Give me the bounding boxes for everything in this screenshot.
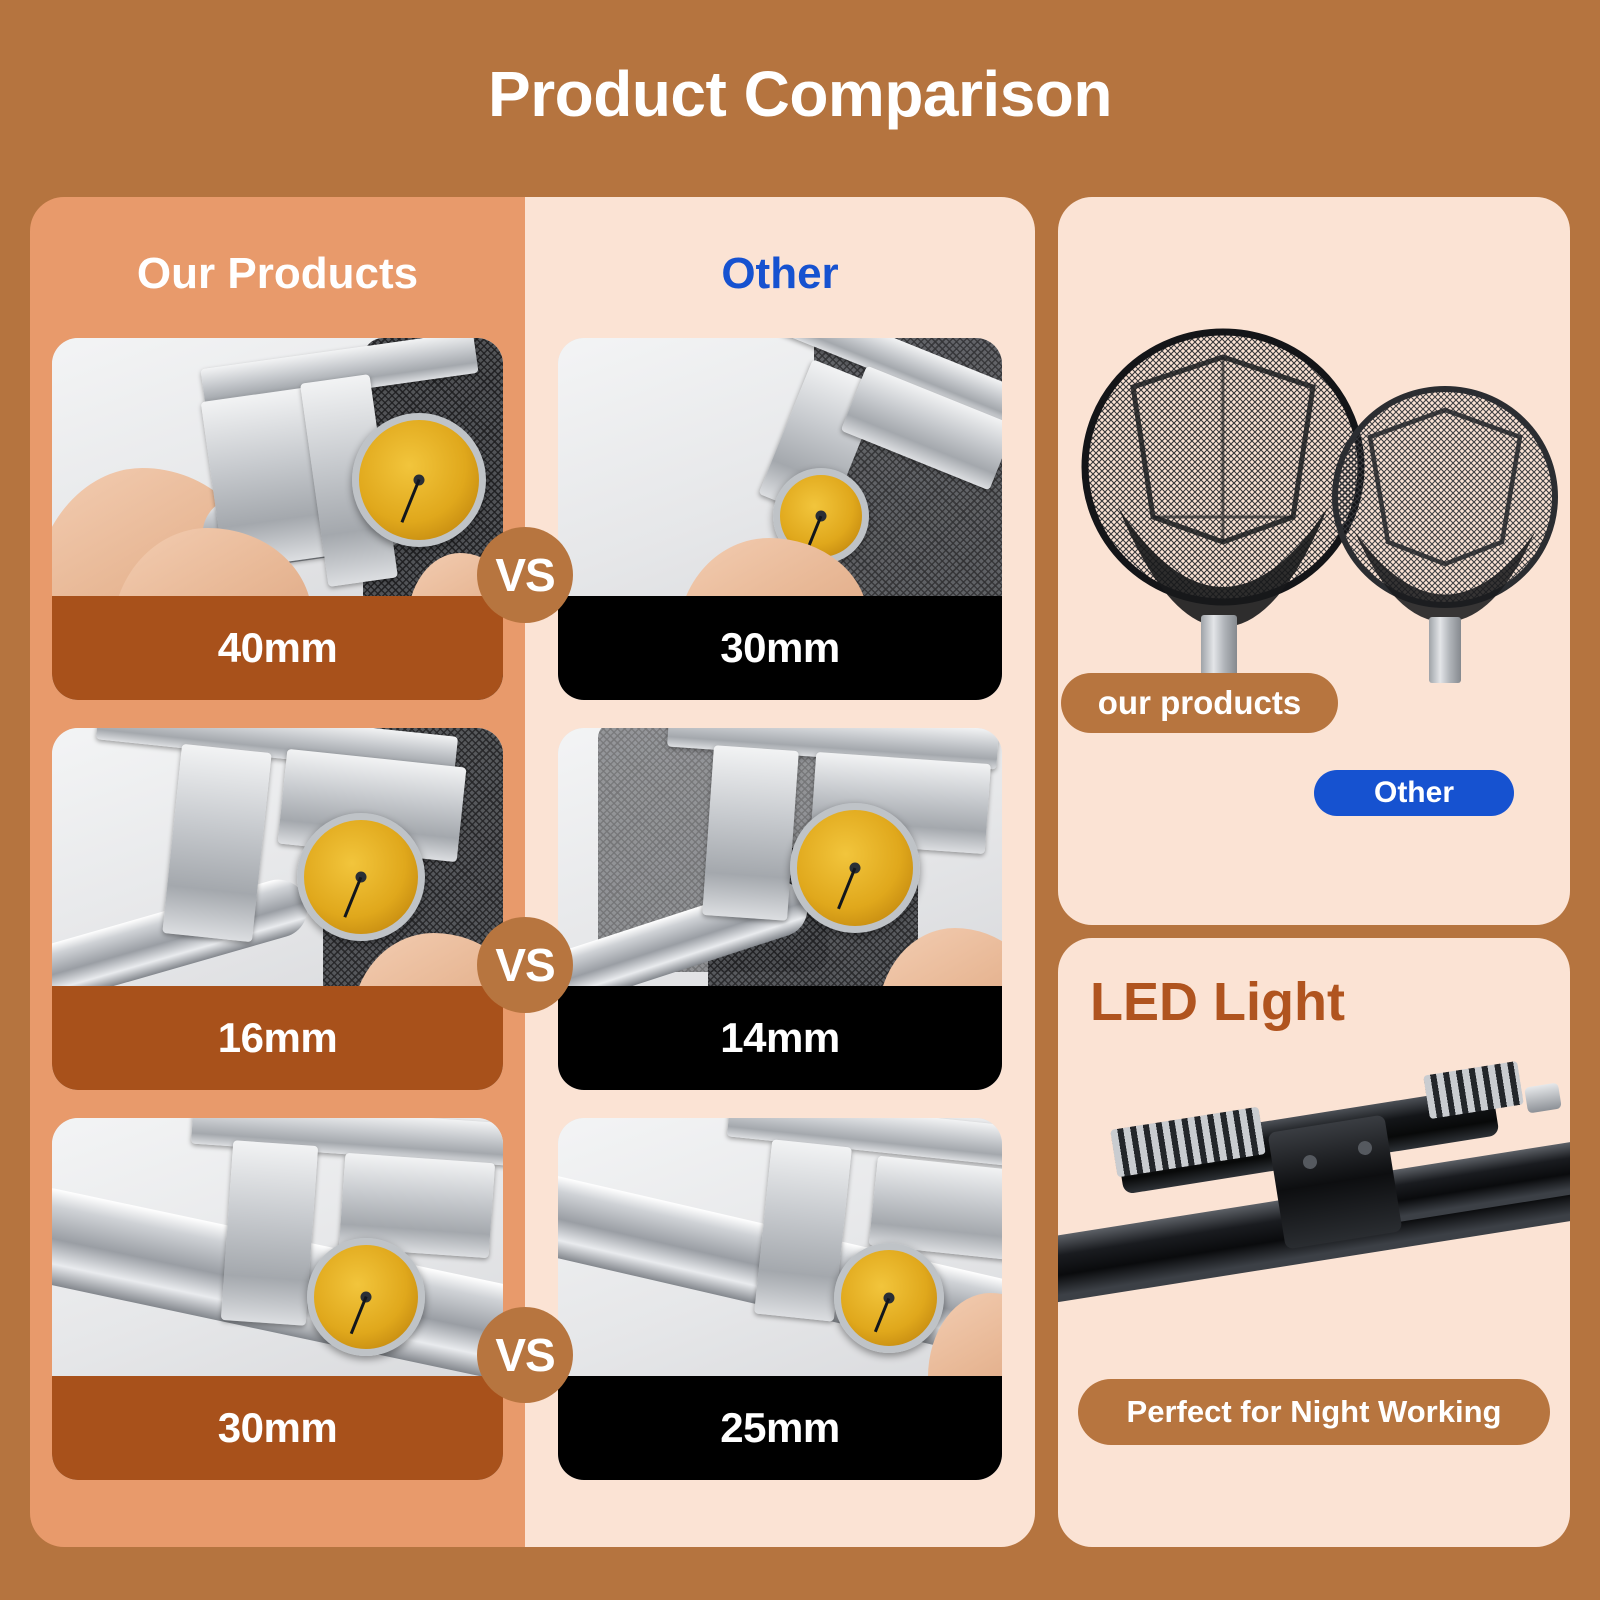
vs-badge-row-1: VS <box>477 527 573 623</box>
column-other: Other 30mm <box>525 197 1035 1547</box>
led-light-card: LED Light Perfect for Night Working <box>1058 938 1570 1547</box>
card-caption-ours-40mm: 40mm <box>52 596 503 700</box>
net-graphic-ours <box>1078 327 1368 627</box>
badge-other-net: Other <box>1314 770 1514 816</box>
badge-our-products-net: our products <box>1061 673 1338 733</box>
card-caption-other-25mm: 25mm <box>558 1376 1002 1480</box>
product-card-ours-30mm[interactable]: 30mm <box>52 1118 503 1480</box>
badge-night-working: Perfect for Night Working <box>1078 1379 1550 1445</box>
vs-badge-row-2: VS <box>477 917 573 1013</box>
led-light-photo <box>1058 1043 1570 1373</box>
vs-badge-row-3: VS <box>477 1307 573 1403</box>
product-card-other-14mm[interactable]: 14mm <box>558 728 1002 1090</box>
net-comparison-card: Other <box>1058 197 1570 925</box>
product-card-ours-40mm[interactable]: 40mm <box>52 338 503 700</box>
card-caption-other-14mm: 14mm <box>558 986 1002 1090</box>
column-heading-other: Other <box>525 252 1035 296</box>
column-our-products: Our Products 40mm <box>30 197 525 1547</box>
card-caption-ours-30mm: 30mm <box>52 1376 503 1480</box>
column-heading-our-products: Our Products <box>30 252 525 296</box>
net-graphic-other <box>1330 382 1560 627</box>
product-card-other-25mm[interactable]: 25mm <box>558 1118 1002 1480</box>
led-light-heading: LED Light <box>1090 975 1345 1029</box>
card-caption-other-30mm: 30mm <box>558 596 1002 700</box>
comparison-panel: Our Products 40mm <box>30 197 1035 1547</box>
net-handle-other <box>1429 617 1461 683</box>
page-title: Product Comparison <box>0 62 1600 126</box>
product-card-ours-16mm[interactable]: 16mm <box>52 728 503 1090</box>
card-caption-ours-16mm: 16mm <box>52 986 503 1090</box>
other-card-list: 30mm 14mm <box>525 338 1035 1508</box>
product-card-other-30mm[interactable]: 30mm <box>558 338 1002 700</box>
our-products-card-list: 40mm 16mm <box>30 338 525 1508</box>
